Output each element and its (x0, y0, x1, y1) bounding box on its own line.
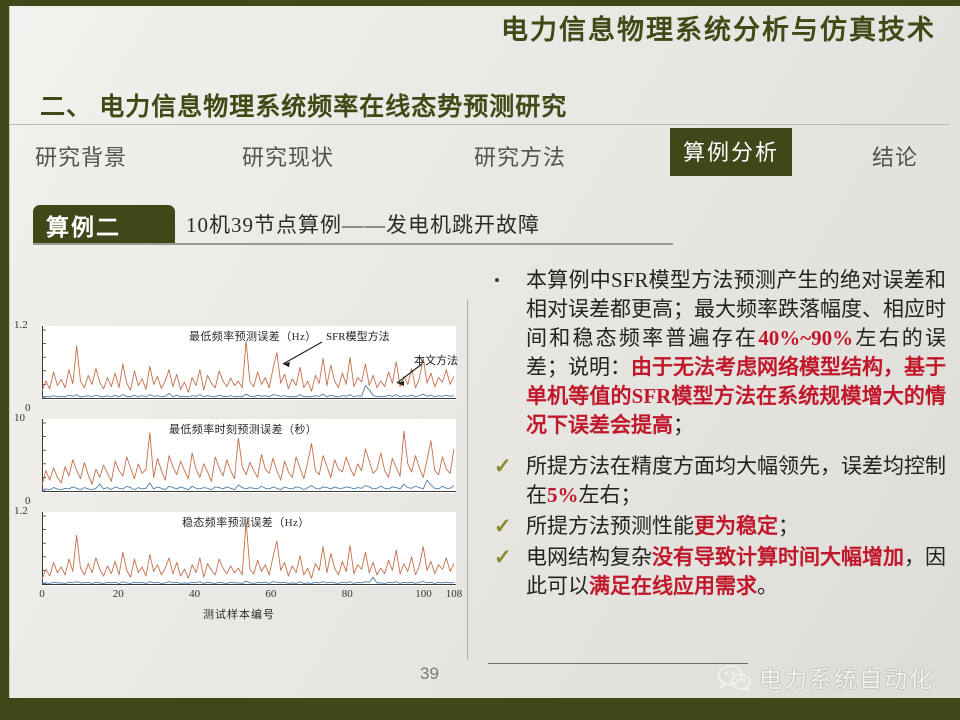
section-divider (10, 124, 950, 125)
deck-title: 电力信息物理系统分析与仿真技术 (501, 8, 936, 47)
chart-panel-steady-frequency-error: 1.2 稳态频率预测误差（Hz） (14, 512, 464, 597)
nav-item-research-background[interactable]: 研究背景 (35, 140, 127, 172)
chart-xtick-100: 100 (415, 588, 432, 600)
wechat-icon (717, 664, 751, 691)
bullet-marker-check-3: ✓ (494, 543, 518, 572)
chart-xtick-108: 108 (446, 588, 463, 600)
watermark: 电力系统自动化 (717, 660, 934, 694)
bullet-2-highlight: 5% (547, 483, 579, 507)
bullet-1-seg5: ； (673, 413, 694, 437)
bullet-4-highlight-2: 满足在线应用需求 (589, 574, 757, 598)
chart-x-axis-label: 测试样本编号 (14, 606, 464, 622)
section-title: 二、 电力信息物理系统频率在线态势预测研究 (40, 87, 567, 123)
bullet-2: ✓所提方法在精度方面均大幅领先，误差均控制在5%左右； (486, 452, 946, 510)
content-divider (467, 300, 468, 660)
nav-item-conclusion[interactable]: 结论 (872, 140, 918, 172)
bullet-4-seg5: 。 (757, 574, 778, 598)
chart0-annotation-sfr: SFR模型方法 (326, 328, 390, 344)
bullet-3-seg1: 所提方法预测性能 (526, 514, 694, 538)
bullet-4-seg1: 电网结构复杂 (526, 545, 652, 569)
left-edge-line (9, 6, 10, 698)
chart-panel-min-frequency-error: 1.2 0 最低频率预测误差（Hz） SFR模型方法 本文方法 (14, 326, 464, 411)
chart1-ytick-top: 10 (14, 412, 25, 424)
bottom-accent-bar (0, 698, 960, 720)
bullet-3-seg3: ； (778, 514, 799, 538)
chart0-ytick-top: 1.2 (14, 319, 28, 331)
chart2-title: 稳态频率预测误差（Hz） (182, 514, 310, 530)
page-number: 39 (420, 664, 439, 684)
footer-rule (488, 663, 748, 664)
example-description: 10机39节点算例——发电机跳开故障 (186, 209, 540, 239)
watermark-text: 电力系统自动化 (759, 660, 934, 694)
chart-x-axis: 020406080100108 (42, 588, 456, 604)
example-tag: 算例二 (33, 205, 175, 245)
chart0-ytick-bottom: 0 (25, 402, 31, 414)
nav-item-case-analysis[interactable]: 算例分析 (670, 128, 792, 176)
chart-xtick-40: 40 (189, 588, 200, 600)
bullet-1-highlight-range: 40%~90% (758, 326, 853, 350)
example-underline (33, 243, 673, 245)
chart-stack: 1.2 0 最低频率预测误差（Hz） SFR模型方法 本文方法 10 0 最低频… (14, 326, 464, 596)
chart-panel-min-frequency-time-error: 10 0 最低频率时刻预测误差（秒） (14, 419, 464, 504)
bullet-1: •本算例中SFR模型方法预测产生的绝对误差和相对误差都更高；最大频率跌落幅度、相… (486, 266, 946, 440)
left-accent-bar (0, 6, 9, 698)
bullet-marker-dot: • (494, 266, 518, 295)
nav-bar: 研究背景 研究现状 研究方法 算例分析 结论 (10, 128, 950, 176)
chart-xtick-80: 80 (342, 588, 353, 600)
bullet-4-highlight-1: 没有导致计算时间大幅增加 (652, 545, 904, 569)
nav-item-research-method[interactable]: 研究方法 (474, 140, 566, 172)
bullet-marker-check-2: ✓ (494, 512, 518, 541)
chart0-annotation-proposed: 本文方法 (414, 352, 458, 368)
conclusion-text-block: •本算例中SFR模型方法预测产生的绝对误差和相对误差都更高；最大频率跌落幅度、相… (486, 266, 946, 603)
chart1-title: 最低频率时刻预测误差（秒） (169, 421, 317, 437)
bullet-3-highlight: 更为稳定 (694, 514, 778, 538)
chart-xtick-20: 20 (113, 588, 124, 600)
bullet-2-seg3: 左右； (579, 483, 642, 507)
bullet-4: ✓电网结构复杂没有导致计算时间大幅增加，因此可以满足在线应用需求。 (486, 543, 946, 601)
chart0-title: 最低频率预测误差（Hz） (189, 328, 317, 344)
nav-item-research-status[interactable]: 研究现状 (242, 140, 334, 172)
bullet-3: ✓所提方法预测性能更为稳定； (486, 512, 946, 541)
top-accent-bar (0, 0, 960, 6)
chart-xtick-0: 0 (39, 588, 45, 600)
bullet-marker-check-1: ✓ (494, 452, 518, 481)
slide-canvas: 电力信息物理系统分析与仿真技术 二、 电力信息物理系统频率在线态势预测研究 研究… (0, 0, 960, 720)
chart2-ytick-top: 1.2 (14, 505, 28, 517)
chart-xtick-60: 60 (265, 588, 276, 600)
